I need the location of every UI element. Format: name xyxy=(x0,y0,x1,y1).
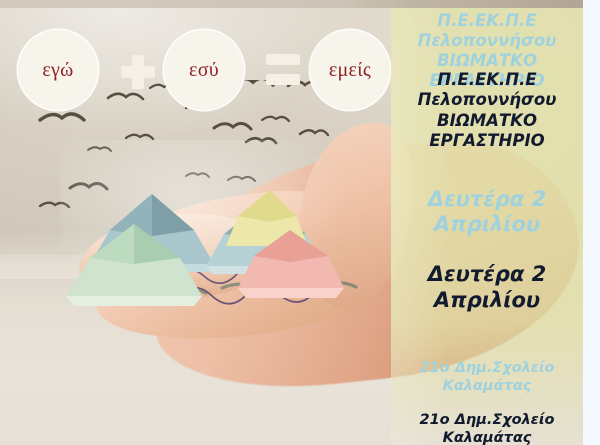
event-date-text-main: Δευτέρα 2 Απριλίου xyxy=(391,262,583,313)
poster-image: εγώ εσύ εμείς Π.Ε.ΕΚ.Π.Ε Πελοποννήσου ΒΙ… xyxy=(0,0,600,445)
plus-icon xyxy=(120,54,156,90)
origami-boat-green xyxy=(60,222,210,316)
origami-boat-pink xyxy=(232,226,352,306)
equals-icon xyxy=(266,54,300,86)
equation-term-emeis-label: εμείς xyxy=(329,60,371,80)
equation-term-ego[interactable]: εγώ xyxy=(18,30,98,110)
event-venue-text-main: 21ο Δημ.Σχολείο Καλαμάτας xyxy=(391,412,583,445)
event-date-text-ghost: Δευτέρα 2 Απριλίου xyxy=(391,187,583,238)
top-strip xyxy=(0,0,583,8)
event-venue-text: 21ο Δημ.Σχολείο Καλαμάτας 21ο Δημ.Σχολεί… xyxy=(391,377,583,445)
equation-term-esy[interactable]: εσύ xyxy=(164,30,244,110)
equation-term-ego-label: εγώ xyxy=(42,60,73,80)
organization-text: Π.Ε.ΕΚ.Π.Ε Πελοποννήσου ΒΙΩΜΑΤΚΟ ΕΡΓΑΣΤΗ… xyxy=(391,30,583,171)
organization-text-main: Π.Ε.ΕΚ.Π.Ε Πελοποννήσου ΒΙΩΜΑΤΚΟ ΕΡΓΑΣΤΗ… xyxy=(391,70,583,151)
right-margin xyxy=(583,0,600,445)
event-date-text: Δευτέρα 2 Απριλίου Δευτέρα 2 Απριλίου xyxy=(391,211,583,339)
equation-row: εγώ εσύ εμείς xyxy=(18,30,390,110)
equation-term-esy-label: εσύ xyxy=(189,60,219,80)
equation-term-emeis[interactable]: εμείς xyxy=(310,30,390,110)
info-panel: Π.Ε.ΕΚ.Π.Ε Πελοποννήσου ΒΙΩΜΑΤΚΟ ΕΡΓΑΣΤΗ… xyxy=(391,8,583,445)
event-venue-text-ghost: 21ο Δημ.Σχολείο Καλαμάτας xyxy=(391,360,583,395)
